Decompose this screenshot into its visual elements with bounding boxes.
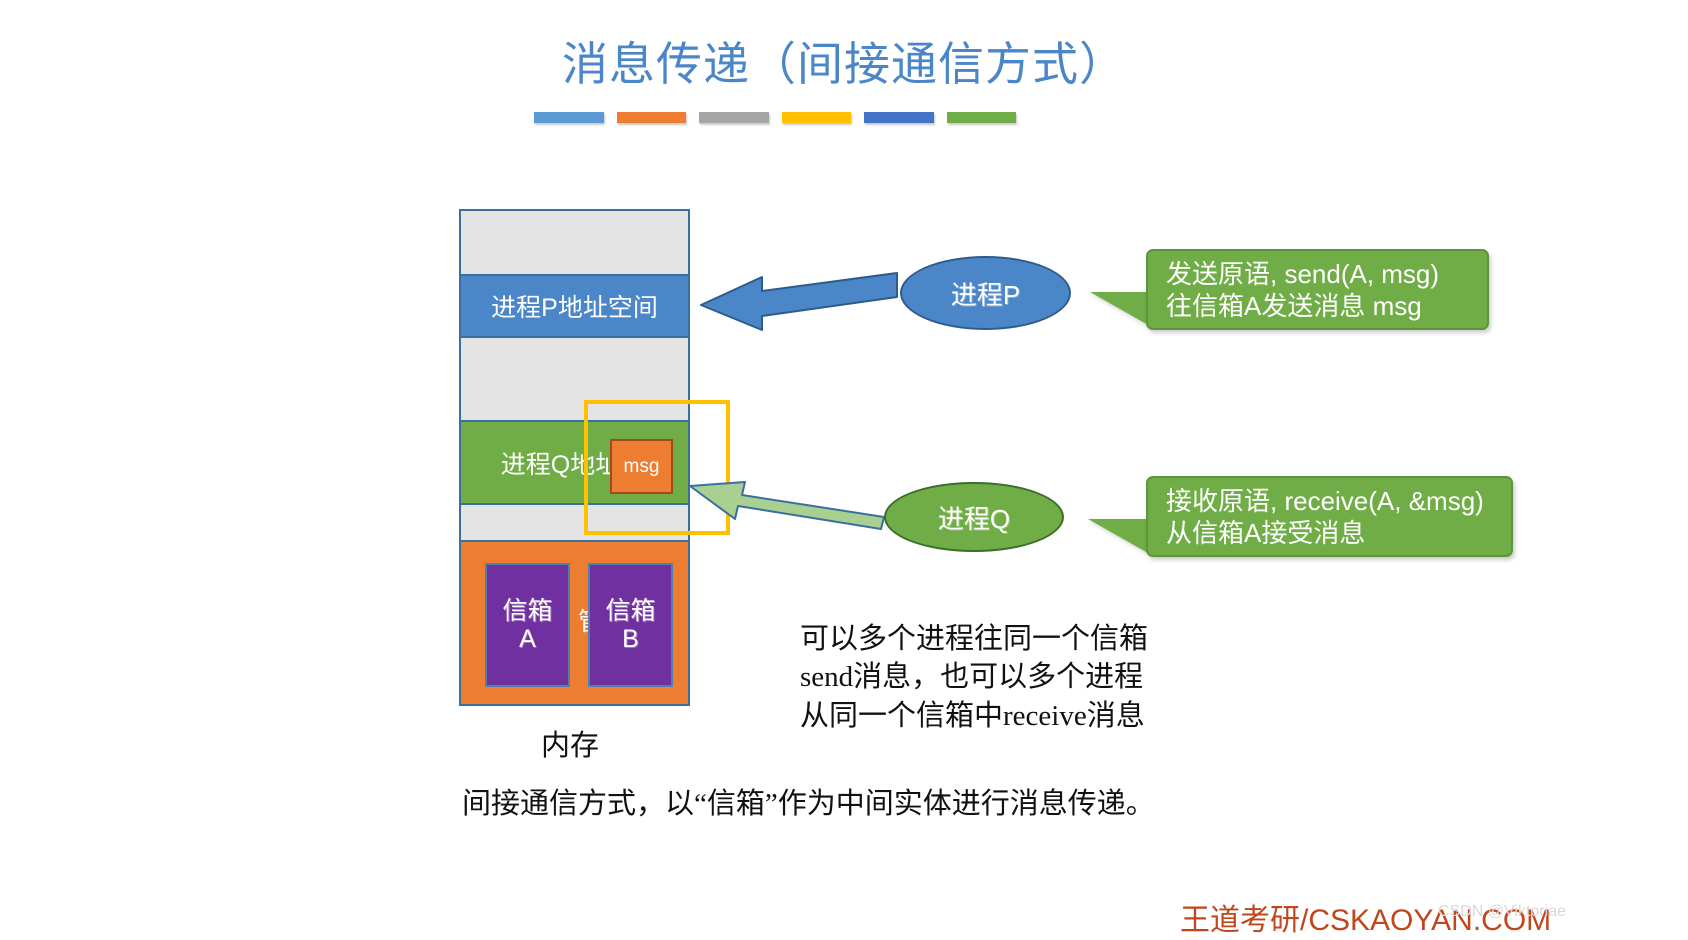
mailbox-b-title: 信箱 [605, 597, 655, 625]
accent-bar-1 [534, 112, 604, 123]
send-callout: 发送原语, send(A, msg) 往信箱A发送消息 msg [1146, 249, 1489, 330]
receive-callout: 接收原语, receive(A, &msg) 从信箱A接受消息 [1146, 476, 1513, 557]
accent-bar-5 [864, 112, 934, 123]
memory-row-process-p: 进程P地址空间 [461, 274, 688, 338]
arrow-p-to-memory [701, 273, 897, 330]
mailbox-a-id: A [519, 625, 536, 653]
process-q-node: 进程Q [884, 482, 1064, 552]
receive-callout-line1: 接收原语, receive(A, &msg) [1166, 486, 1495, 518]
send-callout-tail [1090, 292, 1150, 326]
mailbox-b-id: B [622, 625, 639, 653]
watermark-ghost: CSDN @Viktoriae [1438, 903, 1566, 921]
page-title: 消息传递（间接通信方式） [0, 28, 1688, 94]
memory-row-free-top [461, 211, 688, 274]
accent-bar-2 [617, 112, 687, 123]
receive-callout-tail [1088, 519, 1148, 553]
accent-bar-6 [947, 112, 1017, 123]
memory-caption: 内存 [541, 722, 599, 764]
accent-bar-3 [699, 112, 769, 123]
mailbox-a-title: 信箱 [502, 597, 552, 625]
send-callout-line2: 往信箱A发送消息 msg [1166, 291, 1471, 323]
process-q-label: 进程Q [938, 499, 1010, 536]
summary-sentence: 间接通信方式，以“信箱”作为中间实体进行消息传递。 [462, 780, 1155, 822]
process-p-label: 进程P [951, 275, 1020, 312]
process-p-node: 进程P [900, 256, 1071, 330]
accent-bar-4 [782, 112, 852, 123]
receive-callout-line2: 从信箱A接受消息 [1166, 518, 1495, 550]
multi-process-note: 可以多个进程往同一个信箱 send消息，也可以多个进程 从同一个信箱中recei… [800, 620, 1148, 735]
accent-bar-group [534, 112, 1016, 124]
mailbox-highlight-rect [584, 400, 730, 535]
mailbox-a: 信箱 A [485, 563, 570, 687]
memory-row-process-p-label: 进程P地址空间 [491, 288, 658, 324]
send-callout-line1: 发送原语, send(A, msg) [1166, 259, 1471, 291]
mailbox-b: 信箱 B [588, 563, 673, 687]
